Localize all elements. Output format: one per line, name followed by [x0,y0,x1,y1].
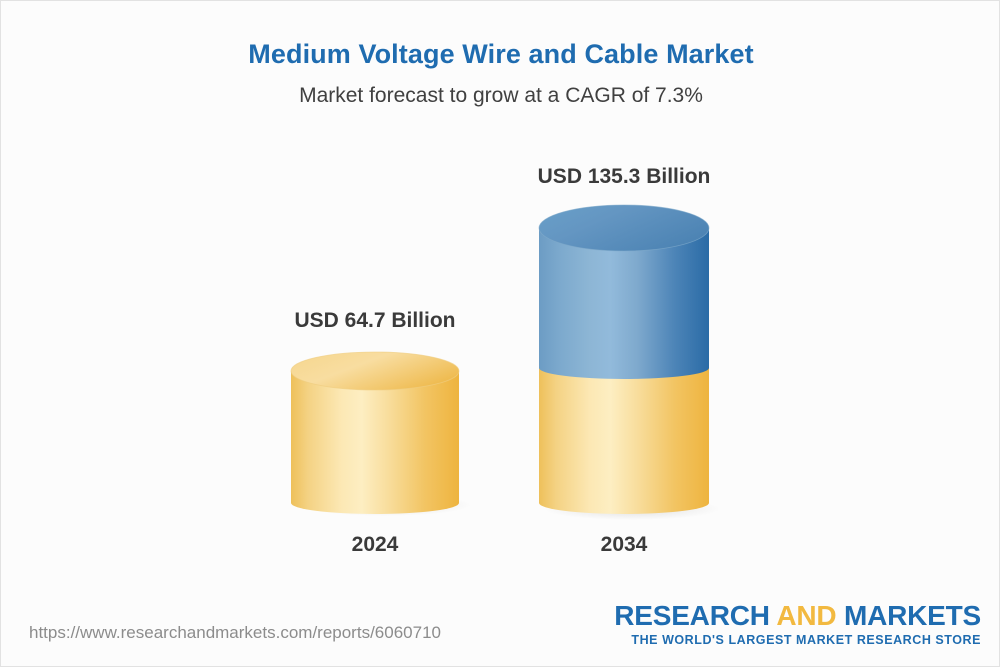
logo-tagline: THE WORLD'S LARGEST MARKET RESEARCH STOR… [614,632,981,648]
bar-cylinder-2034-svg [536,201,716,531]
bar-value-label-2024: USD 64.7 Billion [219,309,531,333]
logo-word-markets: MARKETS [836,600,981,631]
logo-word-and: AND [776,600,836,631]
logo-word-research: RESEARCH [614,600,776,631]
bar-cylinder-2024-svg [289,349,465,525]
logo-wordmark: RESEARCH AND MARKETS [614,601,981,631]
research-and-markets-logo[interactable]: RESEARCH AND MARKETS THE WORLD'S LARGEST… [614,601,981,648]
chart-plot-area: USD 64.7 Billion [1,1,1000,667]
bar-cylinder-2034 [536,201,716,531]
bar-segment-yellow-2034 [539,368,709,514]
bar-value-label-2034: USD 135.3 Billion [468,165,780,189]
report-url[interactable]: https://www.researchandmarkets.com/repor… [29,623,441,643]
bar-cylinder-2024 [289,349,465,525]
infographic-canvas: Medium Voltage Wire and Cable Market Mar… [0,0,1000,667]
category-label-2034: 2034 [468,533,780,557]
bar-body-2024 [291,371,459,514]
